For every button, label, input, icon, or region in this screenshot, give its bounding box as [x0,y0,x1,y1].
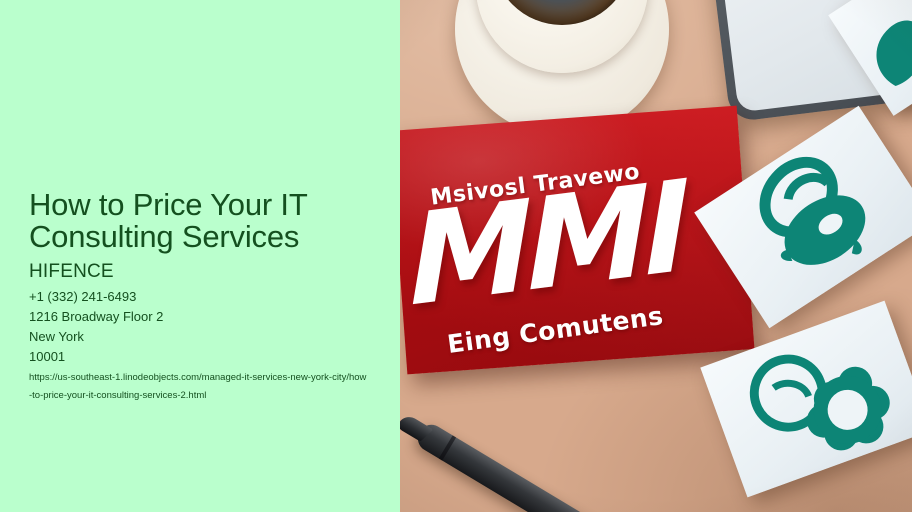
business-phone: +1 (332) 241-6493 [29,287,163,307]
business-zip: 10001 [29,347,163,367]
business-contact-list: +1 (332) 241-6493 1216 Broadway Floor 2 … [29,287,163,367]
pen-band [439,435,456,460]
page-title: How to Price Your IT Consulting Services [29,189,369,253]
business-city: New York [29,327,163,347]
page-root: How to Price Your IT Consulting Services… [0,0,912,512]
card-monogram: MMI [408,164,686,324]
source-url[interactable]: https://us-southeast-1.linodeobjects.com… [29,369,367,405]
red-business-card: Msivosl Travewo MMI Eing Comutens [400,106,754,375]
hero-photo: Msivosl Travewo MMI Eing Comutens [400,0,912,512]
business-name: HIFENCE [29,261,114,283]
business-street: 1216 Broadway Floor 2 [29,307,163,327]
article-info-panel: How to Price Your IT Consulting Services… [0,0,400,512]
